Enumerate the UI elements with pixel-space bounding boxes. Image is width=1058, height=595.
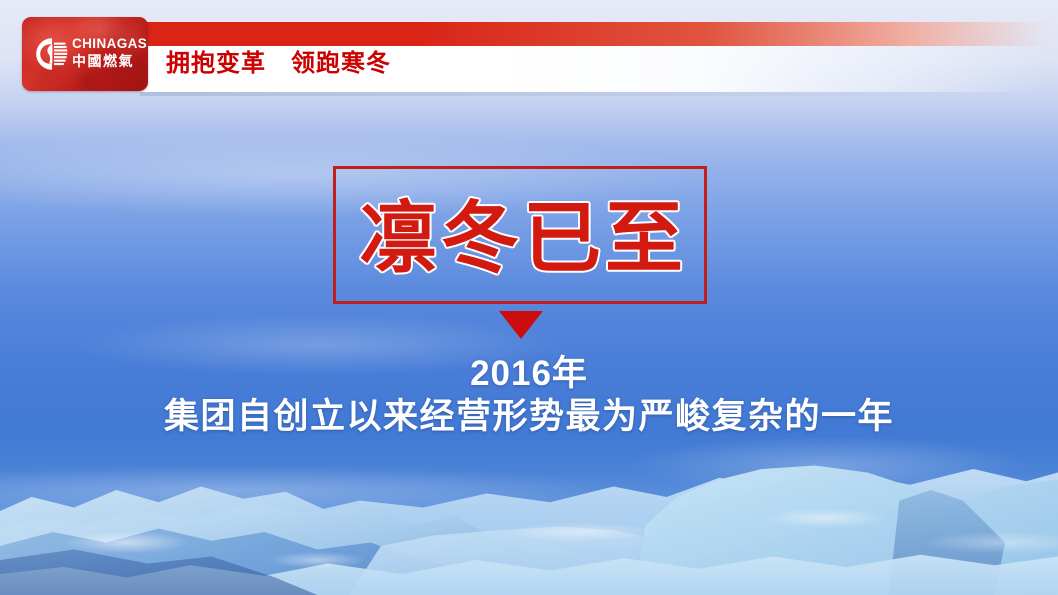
- logo-english-name: CHINAGAS: [72, 37, 144, 51]
- chinagas-logo: CHINAGAS 中國燃氣: [22, 17, 148, 91]
- subtitle-description: 集团自创立以来经营形势最为严峻复杂的一年: [0, 397, 1058, 437]
- iceberg-highlight-sheen: [0, 420, 1058, 595]
- subtitle-block: 2016年 集团自创立以来经营形势最为严峻复杂的一年: [0, 354, 1058, 437]
- logo-wordmark: CHINAGAS 中國燃氣: [72, 37, 144, 68]
- logo-chinese-name: 中國燃氣: [72, 54, 144, 68]
- chinagas-flame-mark-icon: [31, 35, 69, 73]
- header-red-stripe: [140, 22, 1058, 46]
- down-triangle-icon: [499, 311, 543, 339]
- main-title-text: 凛冬已至: [336, 169, 710, 307]
- slide-header-bar: [0, 0, 1058, 108]
- main-title-box: 凛冬已至: [333, 166, 707, 304]
- iceberg-foreground: [0, 420, 1058, 595]
- header-drop-shadow: [140, 92, 1058, 96]
- presentation-slide: CHINAGAS 中國燃氣 拥抱变革 领跑寒冬 凛冬已至 2016年 集团自创立…: [0, 0, 1058, 595]
- subtitle-year: 2016年: [0, 354, 1058, 393]
- header-title: 拥抱变革 领跑寒冬: [166, 52, 391, 76]
